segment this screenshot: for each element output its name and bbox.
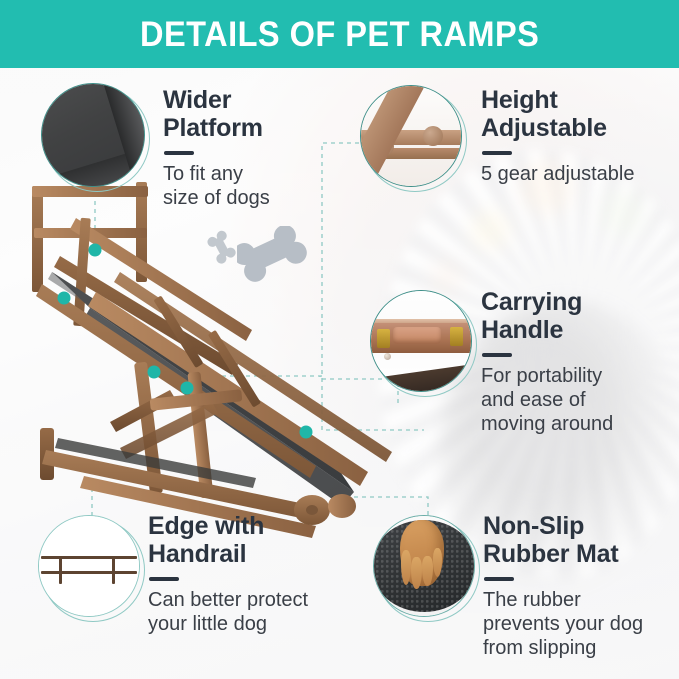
header-banner: DETAILS OF PET RAMPS — [0, 0, 679, 68]
feature-height-adjustable: Height Adjustable 5 gear adjustable — [481, 86, 679, 186]
non-slip-mat-inset — [373, 515, 475, 617]
feature-edge-handrail: Edge with Handrail Can better protect yo… — [148, 512, 358, 636]
title-divider — [164, 151, 194, 155]
feature-title: Edge with Handrail — [148, 512, 358, 568]
dog-paw — [400, 520, 444, 586]
bone-icon-large — [237, 226, 309, 290]
feature-wider-platform: Wider Platform To fit any size of dogs — [163, 86, 313, 210]
title-divider — [482, 353, 512, 357]
feature-title: Non-Slip Rubber Mat — [483, 512, 679, 568]
feature-title: Carrying Handle — [481, 288, 679, 344]
title-divider — [149, 577, 179, 581]
edge-handrail-inset — [38, 515, 140, 617]
feature-title: Height Adjustable — [481, 86, 679, 142]
bone-icon-small — [207, 230, 237, 264]
infographic-canvas: DETAILS OF PET RAMPS — [0, 0, 679, 679]
carrying-handle-inset — [370, 290, 472, 392]
height-adjustable-inset — [360, 85, 462, 187]
title-divider — [482, 151, 512, 155]
feature-carrying-handle: Carrying Handle For portability and ease… — [481, 288, 679, 436]
feature-description: For portability and ease of moving aroun… — [481, 364, 679, 436]
feature-description: The rubber prevents your dog from slippi… — [483, 588, 679, 660]
feature-title: Wider Platform — [163, 86, 313, 142]
hotspot-wider-platform — [89, 244, 102, 257]
wider-platform-inset — [41, 83, 145, 187]
feature-non-slip-mat: Non-Slip Rubber Mat The rubber prevents … — [483, 512, 679, 660]
hotspot-height-adjustable — [148, 366, 161, 379]
title-divider — [484, 577, 514, 581]
hotspot-edge-handrail — [58, 292, 71, 305]
page-title: DETAILS OF PET RAMPS — [140, 17, 539, 52]
feature-description: To fit any size of dogs — [163, 162, 313, 210]
feature-description: 5 gear adjustable — [481, 162, 679, 186]
hotspot-non-slip-mat — [300, 426, 313, 439]
hotspot-support — [181, 382, 194, 395]
feature-description: Can better protect your little dog — [148, 588, 358, 636]
